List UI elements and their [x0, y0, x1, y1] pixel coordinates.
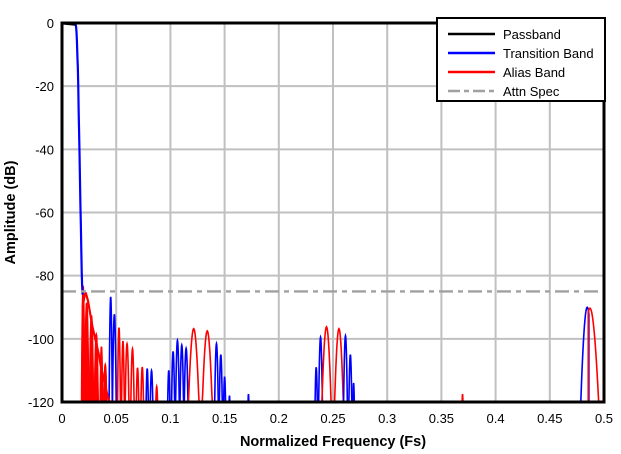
- y-tick-label: -20: [35, 79, 54, 94]
- x-tick-label: 0.4: [487, 411, 505, 426]
- x-tick-label: 0.35: [429, 411, 454, 426]
- legend-label-passband: Passband: [503, 27, 561, 42]
- x-tick-label: 0.3: [378, 411, 396, 426]
- x-tick-label: 0.2: [270, 411, 288, 426]
- x-tick-label: 0.25: [320, 411, 345, 426]
- y-tick-label: -100: [28, 332, 54, 347]
- legend-label-attn-spec: Attn Spec: [503, 84, 560, 99]
- chart-canvas: 00.050.10.150.20.250.30.350.40.450.50-20…: [0, 0, 621, 454]
- y-tick-label: -60: [35, 206, 54, 221]
- y-tick-label: 0: [47, 16, 54, 31]
- x-tick-label: 0.1: [161, 411, 179, 426]
- y-axis-title: Amplitude (dB): [3, 160, 19, 264]
- y-tick-label: -80: [35, 269, 54, 284]
- legend-label-alias-band: Alias Band: [503, 65, 565, 80]
- x-tick-label: 0.45: [537, 411, 562, 426]
- legend: PassbandTransition BandAlias BandAttn Sp…: [437, 18, 605, 101]
- x-axis-title: Normalized Frequency (Fs): [240, 434, 426, 450]
- filter-response-chart: 00.050.10.150.20.250.30.350.40.450.50-20…: [0, 0, 621, 454]
- y-tick-label: -40: [35, 142, 54, 157]
- y-tick-label: -120: [28, 395, 54, 410]
- x-tick-label: 0.05: [104, 411, 129, 426]
- legend-label-transition-band: Transition Band: [503, 46, 594, 61]
- x-tick-label: 0.15: [212, 411, 237, 426]
- x-tick-label: 0: [58, 411, 65, 426]
- x-tick-label: 0.5: [595, 411, 613, 426]
